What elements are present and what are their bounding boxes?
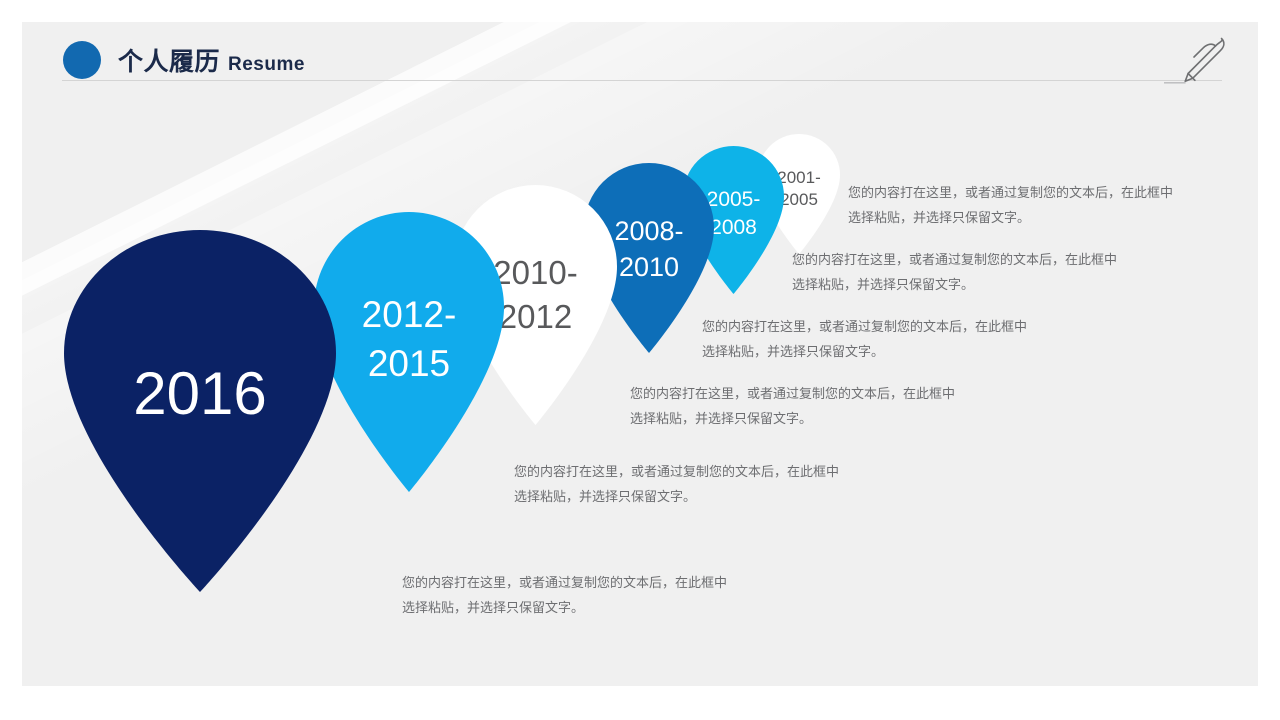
timeline-pin-2016[interactable]: 2016 [64, 230, 336, 592]
header-bullet-dot [63, 41, 101, 79]
header-divider [62, 80, 1222, 81]
timeline-description-4: 您的内容打在这里，或者通过复制您的文本后，在此框中 选择粘贴，并选择只保留文字。 [514, 459, 884, 510]
pin-shape-2012 [314, 212, 504, 492]
page-title-cn: 个人履历 [118, 48, 220, 76]
timeline-description-1: 您的内容打在这里，或者通过复制您的文本后，在此框中 选择粘贴，并选择只保留文字。 [792, 247, 1162, 298]
pen-icon [1164, 32, 1236, 94]
pin-shape-2016 [64, 230, 336, 592]
timeline-description-3: 您的内容打在这里，或者通过复制您的文本后，在此框中 选择粘贴，并选择只保留文字。 [630, 381, 1000, 432]
timeline-description-0: 您的内容打在这里，或者通过复制您的文本后，在此框中 选择粘贴，并选择只保留文字。 [848, 180, 1218, 231]
timeline-description-5: 您的内容打在这里，或者通过复制您的文本后，在此框中 选择粘贴，并选择只保留文字。 [402, 570, 772, 621]
page-title: 个人履历Resume [118, 42, 305, 78]
timeline-description-2: 您的内容打在这里，或者通过复制您的文本后，在此框中 选择粘贴，并选择只保留文字。 [702, 314, 1072, 365]
slide-canvas: 个人履历Resume 2001- 2005 2005- 2008 2008- 2… [22, 22, 1258, 686]
slide-header: 个人履历Resume [22, 22, 1258, 104]
page-title-en: Resume [228, 54, 305, 75]
timeline-pin-2012[interactable]: 2012- 2015 [314, 212, 504, 492]
